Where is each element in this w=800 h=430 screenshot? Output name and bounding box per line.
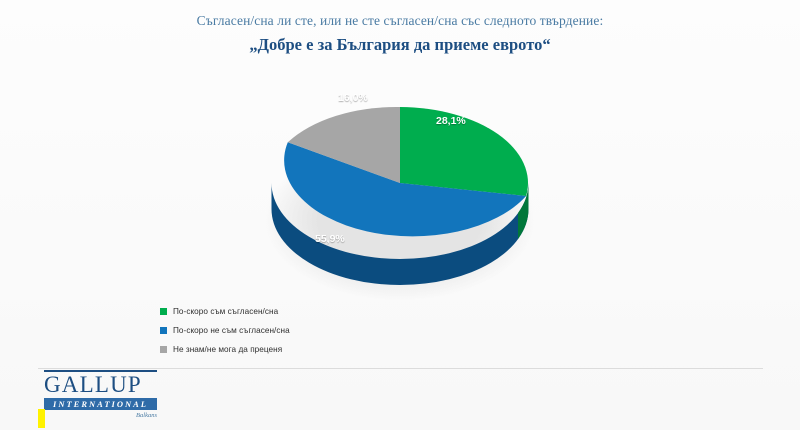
legend-item-disagree[interactable]: По-скоро не съм съгласен/сна	[160, 322, 360, 339]
page-title: Съгласен/сна ли сте, или не сте съгласен…	[0, 12, 800, 56]
legend-label-disagree: По-скоро не съм съгласен/сна	[173, 326, 290, 335]
logo-international-text: INTERNATIONAL	[44, 399, 157, 409]
legend-item-agree[interactable]: По-скоро съм съгласен/сна	[160, 303, 360, 320]
legend-swatch-blue-icon	[160, 327, 167, 334]
pie-chart: 28,1% 55,9% 16,0%	[250, 70, 550, 300]
legend-swatch-gray-icon	[160, 346, 167, 353]
legend-swatch-green-icon	[160, 308, 167, 315]
logo-international-bar: INTERNATIONAL	[44, 398, 157, 410]
footer-divider	[38, 368, 763, 369]
pie-label-agree: 28,1%	[436, 115, 466, 127]
legend-item-dontknow[interactable]: Не знам/не мога да преценя	[160, 341, 360, 358]
yellow-accent-bar	[38, 409, 45, 428]
pie-chart-svg	[250, 70, 550, 300]
chart-legend: По-скоро съм съгласен/сна По-скоро не съ…	[160, 303, 360, 360]
logo-gallup-text: GALLUP	[44, 373, 204, 397]
logo-balkans-text: Balkans	[44, 411, 157, 420]
pie-label-disagree: 55,9%	[315, 233, 345, 245]
legend-label-dontknow: Не знам/не мога да преценя	[173, 345, 282, 354]
gallup-logo: GALLUP INTERNATIONAL Balkans	[44, 370, 204, 420]
slide-canvas: Съгласен/сна ли сте, или не сте съгласен…	[0, 0, 800, 430]
pie-label-dontknow: 16,0%	[338, 92, 368, 104]
title-statement-line: „Добре е за България да приеме еврото“	[0, 33, 800, 56]
title-question-line: Съгласен/сна ли сте, или не сте съгласен…	[0, 12, 800, 30]
legend-label-agree: По-скоро съм съгласен/сна	[173, 307, 278, 316]
